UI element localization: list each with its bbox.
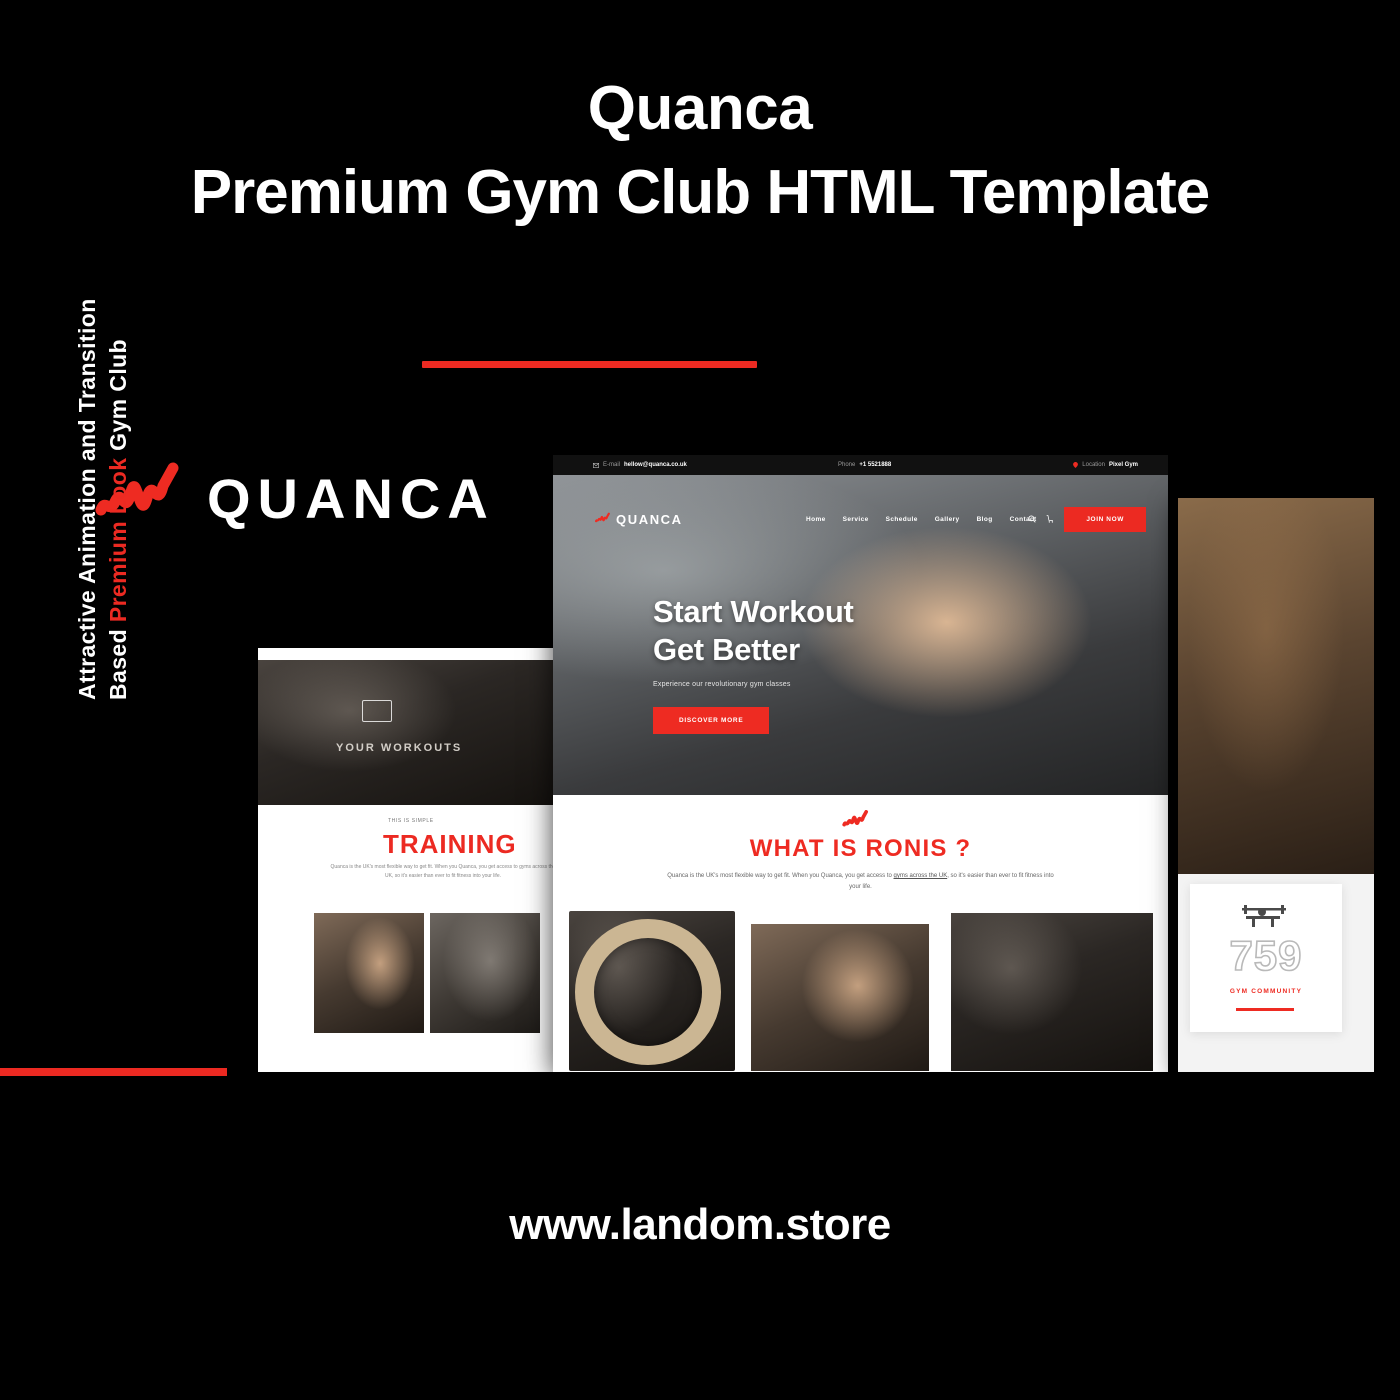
center-hero-copy: Start Workout Get Better Experience our … — [653, 593, 853, 688]
nav-item-schedule[interactable]: Schedule — [886, 516, 918, 523]
poster-header: Quanca Premium Gym Club HTML Template — [0, 78, 1400, 232]
topbar-location: Location Pixel Gym — [1073, 462, 1138, 468]
stat-label: GYM COMMUNITY — [1190, 988, 1342, 995]
center-logo[interactable]: QUANCA — [595, 512, 683, 527]
left-eyebrow: THIS IS SIMPLE — [388, 818, 434, 824]
quanca-wave-logo-icon — [840, 810, 874, 832]
ronis-desc-part-1: Quanca is the UK's most flexible way to … — [667, 873, 893, 879]
header-divider — [422, 361, 757, 368]
tagline-line-1: Attractive Animation and Transition — [72, 240, 103, 700]
center-nav-items: Home Service Schedule Gallery Blog Conta… — [806, 516, 1037, 523]
tagline-highlight: Premium Look — [105, 458, 131, 623]
topbar-phone-value: +1 5521888 — [859, 462, 891, 468]
ronis-gallery-item-1[interactable] — [569, 911, 735, 1071]
hero-headline-line-2: Get Better — [653, 631, 853, 669]
left-tile-2 — [430, 913, 540, 1033]
hero-headline-line-1: Start Workout — [653, 593, 853, 631]
bottom-left-divider — [0, 1068, 227, 1076]
quanca-wave-logo-icon — [595, 512, 612, 526]
ronis-desc: Quanca is the UK's most flexible way to … — [663, 871, 1058, 893]
mockup-center-screen[interactable]: E-mail hellow@quanca.co.uk Phone +1 5521… — [553, 455, 1168, 1072]
join-now-button[interactable]: JOIN NOW — [1064, 507, 1146, 532]
center-topbar: E-mail hellow@quanca.co.uk Phone +1 5521… — [553, 455, 1168, 475]
ronis-desc-link[interactable]: gyms across the UK — [894, 873, 948, 879]
page-title: Quanca — [0, 78, 1400, 140]
stat-underline — [1236, 1008, 1294, 1011]
left-tile-1 — [314, 913, 424, 1033]
stat-card: 759 GYM COMMUNITY — [1190, 884, 1342, 1032]
topbar-email: E-mail hellow@quanca.co.uk — [593, 462, 687, 468]
vertical-tagline: Attractive Animation and Transition Base… — [72, 240, 172, 700]
map-pin-icon — [1073, 462, 1078, 468]
right-hero-photo — [1178, 498, 1374, 874]
ronis-gallery-item-3[interactable] — [951, 913, 1153, 1071]
brand-name: QUANCA — [207, 466, 495, 531]
nav-item-service[interactable]: Service — [843, 516, 869, 523]
bench-press-icon — [1236, 902, 1292, 930]
topbar-location-label: Location — [1082, 462, 1105, 468]
center-navbar: QUANCA Home Service Schedule Gallery Blo… — [553, 499, 1168, 539]
topbar-phone-label: Phone — [838, 462, 855, 468]
topbar-email-value: hellow@quanca.co.uk — [624, 462, 687, 468]
cart-icon[interactable] — [1046, 515, 1054, 523]
ronis-gallery-item-2[interactable] — [751, 924, 929, 1071]
right-stats-panel: 759 GYM COMMUNITY — [1178, 874, 1374, 1072]
tagline-suffix: Gym Club — [105, 339, 131, 458]
gymnastic-ring-icon — [575, 919, 721, 1065]
mockup-right-screen[interactable]: 759 GYM COMMUNITY — [1178, 498, 1374, 1072]
nav-item-gallery[interactable]: Gallery — [935, 516, 960, 523]
hero-subtitle: Experience our revolutionary gym classes — [653, 681, 853, 688]
mockup-left-screen[interactable]: YOUR WORKOUTS THIS IS SIMPLE TRAINING Qu… — [258, 648, 563, 1072]
ronis-section: WHAT IS RONIS ? Quanca is the UK's most … — [553, 795, 1168, 1072]
left-section-title: TRAINING — [383, 829, 517, 860]
ronis-title: WHAT IS RONIS ? — [553, 835, 1168, 863]
center-hero-photo: QUANCA Home Service Schedule Gallery Blo… — [553, 475, 1168, 795]
left-section-desc: Quanca is the UK's most flexible way to … — [328, 863, 558, 880]
center-nav-actions: JOIN NOW — [1028, 507, 1146, 532]
discover-more-button[interactable]: DISCOVER MORE — [653, 707, 769, 734]
left-body: THIS IS SIMPLE TRAINING Quanca is the UK… — [258, 805, 563, 1072]
topbar-location-value: Pixel Gym — [1109, 462, 1138, 468]
workout-card-icon — [362, 700, 392, 722]
left-hero-photo: YOUR WORKOUTS — [258, 660, 563, 805]
page-subtitle: Premium Gym Club HTML Template — [0, 154, 1400, 232]
nav-item-blog[interactable]: Blog — [977, 516, 993, 523]
envelope-icon — [593, 463, 599, 468]
nav-item-home[interactable]: Home — [806, 516, 826, 523]
topbar-phone: Phone +1 5521888 — [838, 462, 891, 468]
stat-number: 759 — [1190, 932, 1342, 980]
search-icon[interactable] — [1028, 515, 1036, 523]
tagline-prefix: Based — [105, 622, 131, 700]
center-logo-text: QUANCA — [616, 512, 683, 527]
tagline-line-2: Based Premium Look Gym Club — [103, 240, 134, 700]
poster-canvas: Quanca Premium Gym Club HTML Template QU… — [0, 0, 1400, 1400]
footer-website: www.landom.store — [0, 1200, 1400, 1250]
topbar-email-label: E-mail — [603, 462, 620, 468]
left-hero-label: YOUR WORKOUTS — [336, 742, 462, 754]
